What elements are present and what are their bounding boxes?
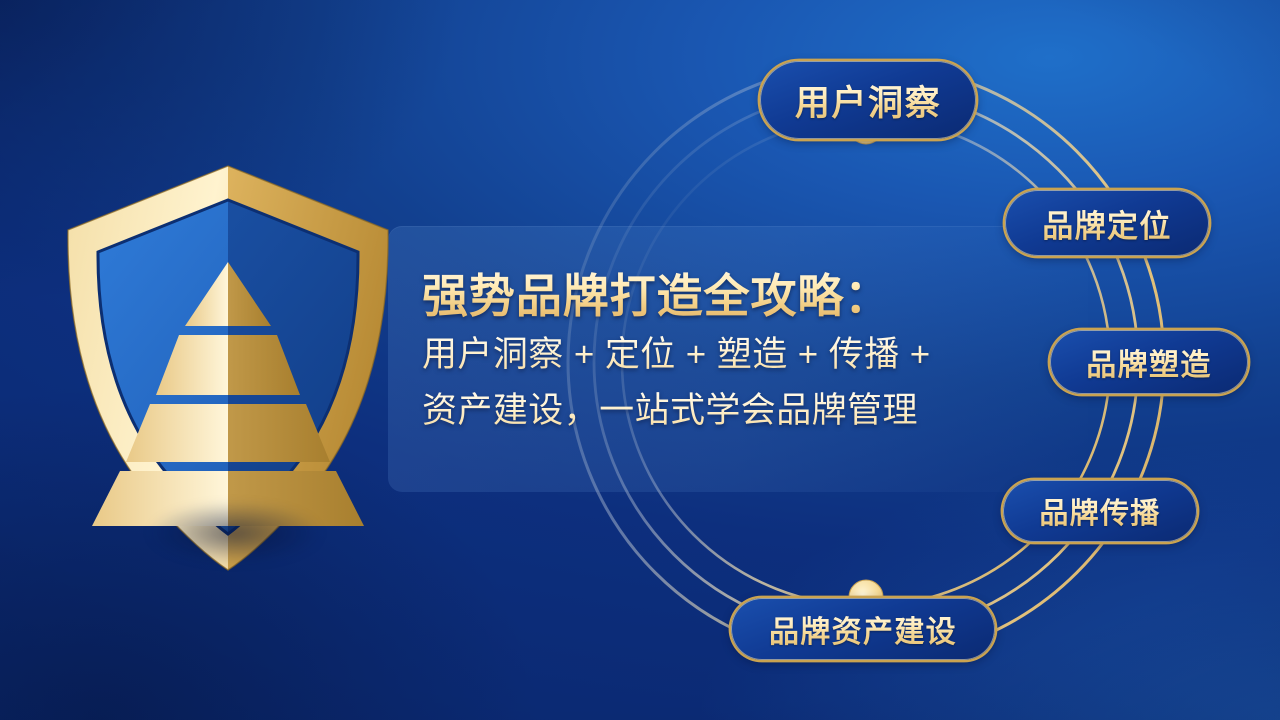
cycle-step-brand-positioning[interactable]: 品牌定位 (1005, 190, 1209, 256)
cycle-step-label: 品牌传播 (1039, 490, 1160, 532)
headline-subtitle-line-1: 用户洞察 + 定位 + 塑造 + 传播 + (422, 330, 1042, 380)
cycle-step-label: 品牌资产建设 (769, 607, 957, 651)
headline-title: 强势品牌打造全攻略： (422, 268, 1042, 324)
headline-block: 强势品牌打造全攻略： 用户洞察 + 定位 + 塑造 + 传播 + 资产建设，一站… (422, 268, 1042, 435)
cycle-step-brand-communication[interactable]: 品牌传播 (1003, 480, 1197, 542)
cycle-step-user-insight[interactable]: 用户洞察 (760, 61, 976, 139)
shield-pyramid-emblem (58, 158, 398, 578)
cycle-step-brand-asset-building[interactable]: 品牌资产建设 (731, 598, 995, 660)
headline-subtitle-line-2: 资产建设，一站式学会品牌管理 (422, 386, 1042, 436)
cycle-step-brand-shaping[interactable]: 品牌塑造 (1050, 330, 1248, 394)
cycle-step-label: 品牌定位 (1042, 201, 1172, 246)
shield-drop-shadow (110, 488, 360, 578)
slide-canvas: 用户洞察 品牌定位 品牌塑造 品牌传播 品牌资产建设 强势品牌打造全攻略： 用户… (0, 0, 1280, 720)
cycle-step-label: 用户洞察 (795, 75, 941, 126)
cycle-step-label: 品牌塑造 (1086, 340, 1211, 384)
